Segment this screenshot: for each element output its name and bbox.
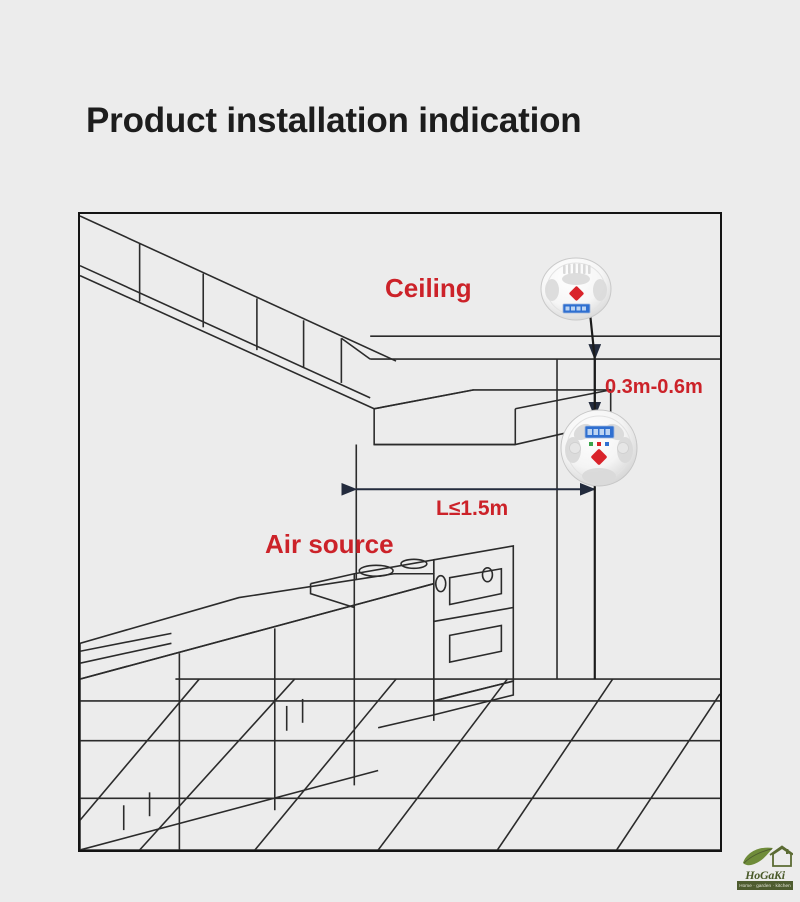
gas-detector-wall-body [557,406,641,490]
diagram-frame: Ceiling 0.3m-0.6m L≤1.5m Air source [78,212,722,852]
label-ceiling: Ceiling [385,273,472,304]
gas-detector-ceiling-body [538,252,614,324]
page-root: Product installation indication [0,0,800,902]
leaf-house-icon [737,845,793,869]
gas-detector-wall[interactable] [557,406,641,495]
hogaki-logo: HoGaKi Home · garden · kitchen [737,845,793,891]
gas-detector-ceiling[interactable] [538,252,614,329]
logo-brand: HoGaKi [737,869,793,881]
counter-cabinets [80,574,434,850]
label-horizontal-distance: L≤1.5m [436,497,508,521]
label-vertical-distance: 0.3m-0.6m [605,376,703,399]
label-air-source: Air source [265,529,394,560]
cooktop [311,559,493,607]
logo-tagline: Home · garden · kitchen [737,881,793,890]
page-title: Product installation indication [86,101,582,141]
kitchen-scene [80,214,720,850]
